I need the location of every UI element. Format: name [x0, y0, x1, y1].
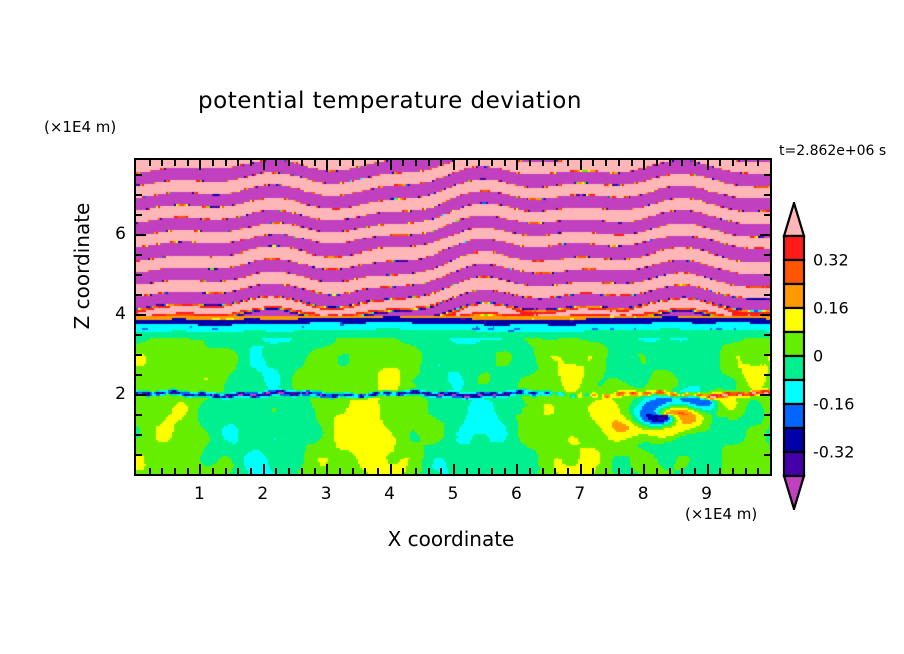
y-tick-right — [764, 214, 770, 216]
x-tick-top — [516, 160, 518, 170]
x-tick-top — [592, 160, 594, 166]
contour-plot-area — [134, 158, 772, 476]
x-tick-top — [542, 160, 544, 166]
x-tick-top — [377, 160, 379, 166]
y-axis-unit-label: (×1E4 m) — [44, 118, 116, 136]
x-tick-top — [453, 160, 455, 170]
x-tick-top — [326, 160, 328, 170]
x-tick-bottom — [618, 468, 620, 474]
x-tick-top — [605, 160, 607, 166]
x-tick-bottom — [237, 468, 239, 474]
colorbar-band — [784, 356, 804, 380]
x-tick-bottom — [288, 468, 290, 474]
timestamp-annotation: t=2.862e+06 s — [779, 143, 886, 159]
x-tick-top — [174, 160, 176, 166]
x-tick-top — [225, 160, 227, 166]
x-tick-bottom — [694, 468, 696, 474]
x-tick-top — [732, 160, 734, 166]
x-tick-top — [161, 160, 163, 166]
x-tick-top — [643, 160, 645, 170]
x-tick-top — [237, 160, 239, 166]
y-tick-left — [136, 254, 142, 256]
y-tick-label-6: 6 — [96, 224, 126, 244]
x-tick-bottom — [656, 468, 658, 474]
y-tick-left — [136, 414, 142, 416]
x-tick-bottom — [719, 468, 721, 474]
x-tick-bottom — [592, 468, 594, 474]
colorbar-swatches — [782, 202, 806, 510]
x-tick-label-6: 6 — [511, 484, 522, 504]
x-tick-top — [352, 160, 354, 166]
x-tick-top — [339, 160, 341, 166]
x-tick-top — [580, 160, 582, 170]
colorbar-tick-label-0: 0 — [813, 347, 823, 366]
y-tick-left — [136, 434, 142, 436]
x-tick-bottom — [377, 468, 379, 474]
x-tick-top — [250, 160, 252, 166]
x-tick-bottom — [352, 468, 354, 474]
y-tick-left — [136, 374, 142, 376]
x-axis-title: X coordinate — [134, 527, 768, 551]
colorbar-band — [784, 332, 804, 356]
x-tick-bottom — [707, 464, 709, 474]
colorbar-band — [784, 452, 804, 476]
y-tick-right — [764, 274, 770, 276]
x-tick-bottom — [301, 468, 303, 474]
x-tick-bottom — [250, 468, 252, 474]
x-tick-bottom — [187, 468, 189, 474]
x-tick-label-7: 7 — [574, 484, 585, 504]
x-tick-bottom — [339, 468, 341, 474]
colorbar-band — [784, 308, 804, 332]
x-tick-bottom — [681, 468, 683, 474]
x-tick-label-4: 4 — [384, 484, 395, 504]
x-tick-bottom — [364, 468, 366, 474]
x-tick-top — [669, 160, 671, 166]
colorbar-band — [784, 284, 804, 308]
x-tick-label-9: 9 — [701, 484, 712, 504]
x-tick-top — [656, 160, 658, 166]
y-tick-right — [764, 454, 770, 456]
colorbar-tick-label-0.16: 0.16 — [813, 299, 849, 318]
x-tick-label-5: 5 — [448, 484, 459, 504]
page-title: potential temperature deviation — [0, 88, 780, 114]
x-tick-top — [491, 160, 493, 166]
y-tick-right — [764, 194, 770, 196]
x-tick-bottom — [440, 468, 442, 474]
x-tick-top — [745, 160, 747, 166]
x-tick-bottom — [757, 468, 759, 474]
x-tick-top — [415, 160, 417, 166]
x-tick-top — [707, 160, 709, 170]
x-tick-bottom — [643, 464, 645, 474]
colorbar-under-arrow — [784, 476, 804, 509]
x-tick-bottom — [212, 468, 214, 474]
y-tick-right — [764, 374, 770, 376]
x-tick-bottom — [542, 468, 544, 474]
x-tick-bottom — [225, 468, 227, 474]
x-tick-bottom — [326, 464, 328, 474]
y-tick-left — [136, 334, 142, 336]
x-tick-bottom — [390, 464, 392, 474]
x-tick-bottom — [567, 468, 569, 474]
y-tick-right — [764, 354, 770, 356]
x-tick-bottom — [745, 468, 747, 474]
contour-field-canvas — [136, 160, 770, 474]
x-tick-bottom — [478, 468, 480, 474]
colorbar-band — [784, 428, 804, 452]
figure-root: potential temperature deviation (×1E4 m)… — [0, 0, 904, 654]
x-tick-top — [478, 160, 480, 166]
colorbar — [782, 202, 806, 510]
colorbar-band — [784, 236, 804, 260]
x-tick-top — [263, 160, 265, 170]
x-tick-top — [301, 160, 303, 166]
x-tick-bottom — [466, 468, 468, 474]
x-tick-top — [554, 160, 556, 166]
colorbar-over-arrow — [784, 203, 804, 236]
x-tick-top — [402, 160, 404, 166]
x-tick-bottom — [516, 464, 518, 474]
x-tick-bottom — [275, 468, 277, 474]
x-tick-bottom — [149, 468, 151, 474]
x-tick-top — [694, 160, 696, 166]
y-tick-right — [760, 314, 770, 316]
y-tick-right — [764, 414, 770, 416]
x-tick-top — [757, 160, 759, 166]
x-tick-top — [212, 160, 214, 166]
x-tick-bottom — [605, 468, 607, 474]
x-tick-top — [199, 160, 201, 170]
y-tick-right — [764, 434, 770, 436]
x-tick-bottom — [161, 468, 163, 474]
x-tick-top — [719, 160, 721, 166]
x-tick-top — [275, 160, 277, 166]
x-tick-top — [364, 160, 366, 166]
x-tick-top — [529, 160, 531, 166]
y-tick-right — [760, 234, 770, 236]
x-tick-bottom — [491, 468, 493, 474]
x-tick-bottom — [504, 468, 506, 474]
y-tick-left — [136, 354, 142, 356]
y-tick-left — [136, 174, 142, 176]
y-tick-left — [136, 194, 142, 196]
y-tick-left — [136, 234, 146, 236]
y-tick-right — [764, 254, 770, 256]
y-tick-right — [760, 394, 770, 396]
x-tick-top — [618, 160, 620, 166]
y-tick-left — [136, 294, 142, 296]
x-tick-top — [149, 160, 151, 166]
y-tick-label-2: 2 — [96, 384, 126, 404]
x-tick-bottom — [554, 468, 556, 474]
x-tick-bottom — [732, 468, 734, 474]
x-tick-top — [187, 160, 189, 166]
x-tick-bottom — [529, 468, 531, 474]
x-tick-top — [428, 160, 430, 166]
x-tick-top — [567, 160, 569, 166]
y-tick-left — [136, 394, 146, 396]
x-tick-bottom — [415, 468, 417, 474]
colorbar-tick-label-0.32: 0.32 — [813, 251, 849, 270]
x-tick-top — [440, 160, 442, 166]
x-tick-bottom — [453, 464, 455, 474]
y-tick-right — [764, 334, 770, 336]
x-tick-bottom — [174, 468, 176, 474]
x-tick-top — [504, 160, 506, 166]
x-tick-top — [631, 160, 633, 166]
y-tick-left — [136, 214, 142, 216]
x-tick-bottom — [263, 464, 265, 474]
x-tick-label-1: 1 — [194, 484, 205, 504]
x-tick-bottom — [314, 468, 316, 474]
x-tick-top — [314, 160, 316, 166]
y-tick-right — [764, 174, 770, 176]
x-tick-bottom — [580, 464, 582, 474]
y-tick-label-4: 4 — [96, 304, 126, 324]
x-tick-bottom — [631, 468, 633, 474]
y-tick-right — [764, 294, 770, 296]
y-axis-title: Z coordinate — [70, 166, 94, 366]
x-tick-bottom — [669, 468, 671, 474]
x-axis-unit-label: (×1E4 m) — [685, 505, 757, 523]
x-tick-label-8: 8 — [638, 484, 649, 504]
colorbar-band — [784, 260, 804, 284]
y-tick-left — [136, 274, 142, 276]
x-tick-bottom — [199, 464, 201, 474]
y-tick-left — [136, 454, 142, 456]
y-tick-left — [136, 314, 146, 316]
x-tick-top — [288, 160, 290, 166]
colorbar-tick-label--0.16: -0.16 — [813, 395, 854, 414]
colorbar-tick-label--0.32: -0.32 — [813, 443, 854, 462]
x-tick-bottom — [402, 468, 404, 474]
x-tick-label-3: 3 — [321, 484, 332, 504]
x-tick-top — [466, 160, 468, 166]
x-tick-label-2: 2 — [257, 484, 268, 504]
colorbar-band — [784, 380, 804, 404]
x-tick-top — [390, 160, 392, 170]
colorbar-band — [784, 404, 804, 428]
x-tick-top — [681, 160, 683, 166]
x-tick-bottom — [428, 468, 430, 474]
